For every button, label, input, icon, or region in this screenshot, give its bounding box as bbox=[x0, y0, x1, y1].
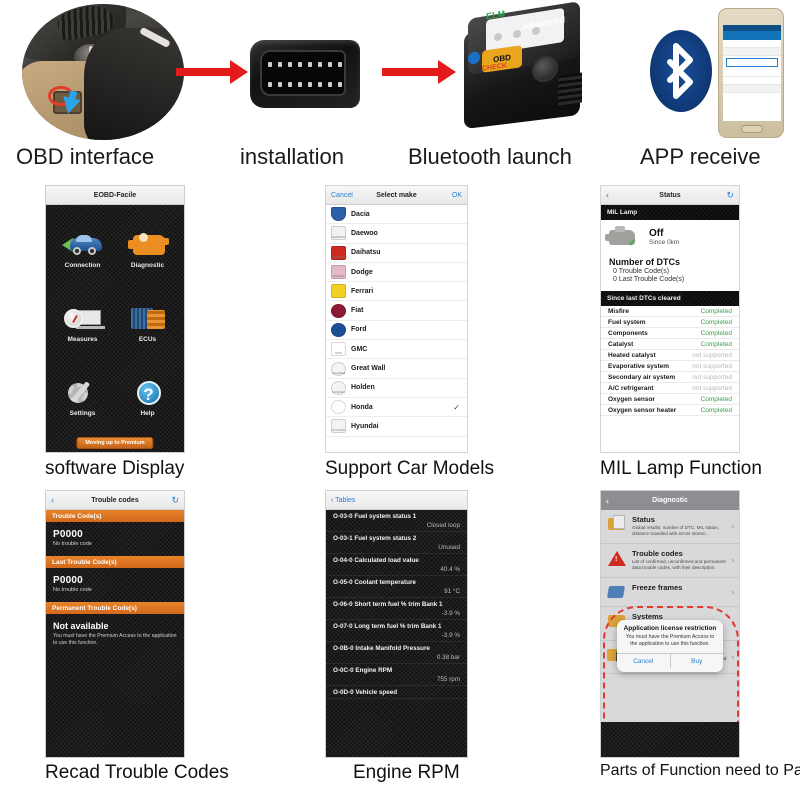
monitor-row: MisfireCompleted bbox=[601, 306, 739, 317]
pid-value: 755 rpm bbox=[333, 676, 460, 683]
home-tile-connection[interactable]: Connection bbox=[50, 213, 115, 287]
app-title: EOBD-Facile bbox=[94, 192, 136, 199]
plug-face bbox=[260, 50, 346, 96]
pid-name: O-06-0 Short term fuel % trim Bank 1 bbox=[333, 601, 460, 608]
phone-list-row bbox=[723, 40, 781, 48]
warning-triangle-icon bbox=[607, 549, 627, 567]
monitor-status-badge: Completed bbox=[701, 308, 732, 315]
caption-engine-rpm: Engine RPM bbox=[353, 762, 460, 784]
phone-selected-device-row bbox=[726, 58, 778, 67]
caption-software-display: software Display bbox=[45, 458, 184, 480]
caption-paid-functions: Parts of Function need to Pay bbox=[600, 762, 800, 780]
back-icon[interactable]: ‹ bbox=[606, 190, 609, 200]
pid-row[interactable]: O-0B-0 Intake Manifold Pressure0.38 bar bbox=[326, 642, 467, 664]
mil-state-row: ✔ Off Since 0km bbox=[609, 226, 731, 248]
pid-name: O-07-0 Long term fuel % trim Bank 1 bbox=[333, 623, 460, 630]
question-mark-icon: ? bbox=[127, 378, 169, 408]
monitor-status-badge: not supported bbox=[692, 374, 732, 381]
dialog-message: You must have the Premium Access to the … bbox=[617, 634, 723, 653]
engine-lamp-icon: ✔ bbox=[609, 226, 641, 248]
pid-table-list[interactable]: O-03-0 Fuel system status 1Closed loopO-… bbox=[326, 510, 467, 758]
chevron-right-icon: › bbox=[731, 522, 734, 531]
monitor-row: Fuel systemCompleted bbox=[601, 317, 739, 328]
monitor-status-badge: Completed bbox=[701, 330, 732, 337]
trouble-section-body: Not availableYou must have the Premium A… bbox=[46, 614, 184, 656]
home-menu-grid: Connection Diagnostic Measures ECUs bbox=[46, 205, 184, 453]
caption-support-car-models: Support Car Models bbox=[325, 458, 494, 480]
make-logo-icon: DAEWOO bbox=[331, 226, 346, 240]
make-list-item[interactable]: GMCGMC bbox=[326, 340, 467, 359]
make-list-item[interactable]: HYUNDAIHyundai bbox=[326, 417, 467, 436]
make-logo-icon: HOLDEN bbox=[331, 381, 346, 395]
monitor-status-badge: Completed bbox=[701, 319, 732, 326]
refresh-icon[interactable]: ↻ bbox=[171, 495, 179, 506]
dialog-actions: Cancel Buy bbox=[617, 653, 723, 668]
flow-caption-obd: OBD interface bbox=[16, 144, 154, 170]
monitor-status-list: MisfireCompletedFuel systemCompletedComp… bbox=[601, 306, 739, 416]
pid-name: O-0B-0 Intake Manifold Pressure bbox=[333, 645, 460, 652]
pid-row[interactable]: O-06-0 Short term fuel % trim Bank 1-3.9… bbox=[326, 598, 467, 620]
section-header-mil-lamp: MIL Lamp bbox=[601, 205, 739, 220]
monitor-name: A/C refrigerant bbox=[608, 385, 654, 392]
trouble-code-value: P0000 bbox=[53, 575, 177, 586]
pid-row[interactable]: O-05-0 Coolant temperature91 °C bbox=[326, 576, 467, 598]
gauge-laptop-icon bbox=[62, 304, 104, 334]
make-name-label: Holden bbox=[351, 384, 375, 391]
tables-navbar: ‹ Tables bbox=[326, 491, 467, 510]
trouble-section-header: Trouble Code(s) bbox=[46, 510, 184, 522]
make-name-label: Dacia bbox=[351, 211, 370, 218]
status-title: Status bbox=[659, 192, 680, 199]
make-name-label: Hyundai bbox=[351, 423, 379, 430]
make-list-item[interactable]: Ford bbox=[326, 321, 467, 340]
pid-value: Unused bbox=[333, 544, 460, 551]
make-logo-icon bbox=[331, 400, 346, 414]
make-list-item[interactable]: Ferrari bbox=[326, 282, 467, 301]
mil-lamp-summary: ✔ Off Since 0km Number of DTCs 0 Trouble… bbox=[601, 220, 739, 291]
dtc-count-line: 0 Last Trouble Code(s) bbox=[609, 276, 731, 283]
back-icon[interactable]: ‹ bbox=[51, 495, 54, 505]
make-name-label: Daewoo bbox=[351, 230, 378, 237]
diagnostic-item-description: Global results: number of DTC, MIL statu… bbox=[632, 525, 727, 538]
monitor-name: Heated catalyst bbox=[608, 352, 656, 359]
make-name-label: Dodge bbox=[351, 269, 373, 276]
monitor-row: Oxygen sensorCompleted bbox=[601, 394, 739, 405]
diagnostic-title: Diagnostic bbox=[652, 497, 688, 504]
make-logo-caption: GMC bbox=[332, 351, 345, 355]
gear-wrench-icon bbox=[62, 378, 104, 408]
make-list-item[interactable]: Honda✓ bbox=[326, 398, 467, 417]
flow-caption-bluetooth: Bluetooth launch bbox=[408, 144, 572, 170]
obd-interface-photo bbox=[22, 4, 184, 140]
chevron-right-icon: › bbox=[731, 652, 734, 661]
home-tile-measures[interactable]: Measures bbox=[50, 287, 115, 361]
monitor-row: Secondary air systemnot supported bbox=[601, 372, 739, 383]
dialog-cancel-button[interactable]: Cancel bbox=[617, 654, 670, 668]
trouble-code-description: You must have the Premium Access to the … bbox=[53, 633, 177, 647]
flow-caption-installation: installation bbox=[240, 144, 344, 170]
pid-name: O-03-0 Fuel system status 1 bbox=[333, 513, 460, 520]
monitor-name: Components bbox=[608, 330, 648, 337]
make-name-label: Honda bbox=[351, 404, 373, 411]
monitor-row: Oxygen sensor heaterCompleted bbox=[601, 405, 739, 416]
trouble-code-description: No trouble code bbox=[53, 541, 177, 547]
trouble-codes-body: Trouble Code(s)P0000No trouble codeLast … bbox=[46, 510, 184, 758]
back-to-tables-button[interactable]: ‹ Tables bbox=[331, 497, 355, 504]
home-tile-label: Help bbox=[140, 410, 154, 417]
pid-value: -3.9 % bbox=[333, 632, 460, 639]
engine-diagnostic-icon bbox=[127, 230, 169, 260]
diagnostic-list-item[interactable]: Trouble codesList of confirmed, unconfir… bbox=[601, 544, 739, 578]
make-name-label: Great Wall bbox=[351, 365, 385, 372]
home-tile-label: Settings bbox=[70, 410, 96, 417]
monitor-name: Misfire bbox=[608, 308, 629, 315]
make-logo-caption: DAEWOO bbox=[332, 235, 345, 239]
freeze-frame-icon bbox=[607, 583, 627, 601]
home-tile-label: Connection bbox=[65, 262, 101, 269]
section-header-monitors: Since last DTCs cleared bbox=[601, 291, 739, 306]
red-right-arrow-icon-1 bbox=[176, 68, 232, 76]
trouble-section-body: P0000No trouble code bbox=[46, 522, 184, 556]
monitor-status-badge: not supported bbox=[692, 385, 732, 392]
make-list-item[interactable]: DAIHATSUDaihatsu bbox=[326, 244, 467, 263]
pid-row[interactable]: O-03-1 Fuel system status 2Unused bbox=[326, 532, 467, 554]
pid-value: 40.4 % bbox=[333, 566, 460, 573]
trouble-title: Trouble codes bbox=[91, 497, 138, 504]
monitor-status-badge: not supported bbox=[692, 363, 732, 370]
make-logo-caption: GreatWall bbox=[332, 371, 345, 375]
home-tile-label: Measures bbox=[68, 336, 98, 343]
license-restriction-dialog: Application license restriction You must… bbox=[617, 620, 723, 672]
flow-caption-app: APP receive bbox=[640, 144, 761, 170]
diagnostic-list-item[interactable]: Freeze frames› bbox=[601, 578, 739, 607]
make-logo-caption: HOLDEN bbox=[332, 390, 345, 394]
phone-home-button bbox=[741, 125, 763, 133]
home-tile-ecus[interactable]: ECUs bbox=[115, 287, 180, 361]
dtc-count-line: 0 Trouble Code(s) bbox=[609, 268, 731, 275]
make-name-label: Daihatsu bbox=[351, 249, 381, 256]
phone-list-row bbox=[723, 69, 781, 77]
monitor-status-badge: Completed bbox=[701, 407, 732, 414]
dialog-title: Application license restriction bbox=[617, 620, 723, 634]
trouble-code-value: Not available bbox=[53, 621, 177, 631]
mil-state-value: Off bbox=[649, 228, 679, 239]
home-tile-label: Diagnostic bbox=[131, 262, 164, 269]
monitor-name: Oxygen sensor bbox=[608, 396, 655, 403]
plug-pin-row-lower bbox=[268, 78, 342, 91]
panel-paid-functions: ‹ Diagnostic StatusGlobal results: numbe… bbox=[600, 490, 740, 758]
make-list-item[interactable]: Dacia bbox=[326, 205, 467, 224]
pid-row[interactable]: O-04-0 Calculated load value40.4 % bbox=[326, 554, 467, 576]
make-logo-icon: GMC bbox=[331, 342, 346, 356]
trouble-section-header: Last Trouble Code(s) bbox=[46, 556, 184, 568]
page-root: OBD interface installation ELM Advanced bbox=[0, 0, 800, 800]
trouble-code-description: No trouble code bbox=[53, 587, 177, 593]
smartphone-mockup bbox=[718, 8, 784, 138]
pid-name: O-03-1 Fuel system status 2 bbox=[333, 535, 460, 542]
car-make-list[interactable]: DaciaDAEWOODaewooDAIHATSUDaihatsuDODGEDo… bbox=[326, 205, 467, 453]
make-name-label: Ford bbox=[351, 326, 367, 333]
software-titlebar: EOBD-Facile bbox=[46, 186, 184, 205]
diagnostic-footer bbox=[601, 722, 739, 758]
make-list-item[interactable]: DAEWOODaewoo bbox=[326, 224, 467, 243]
pid-row[interactable]: O-03-0 Fuel system status 1Closed loop bbox=[326, 510, 467, 532]
make-list-item[interactable]: Fiat bbox=[326, 301, 467, 320]
make-list-item[interactable]: GreatWallGreat Wall bbox=[326, 359, 467, 378]
home-tile-settings[interactable]: Settings bbox=[50, 360, 115, 434]
pid-value: Closed loop bbox=[333, 522, 460, 529]
make-logo-icon: GreatWall bbox=[331, 362, 346, 376]
refresh-icon[interactable]: ↻ bbox=[726, 190, 734, 201]
dtc-count-title: Number of DTCs bbox=[609, 257, 731, 267]
pid-name: O-0D-0 Vehicle speed bbox=[333, 689, 460, 696]
make-logo-icon: DODGE bbox=[331, 265, 346, 279]
make-logo-icon: DAIHATSU bbox=[331, 246, 346, 260]
monitor-row: CatalystCompleted bbox=[601, 339, 739, 350]
phone-list-row bbox=[723, 85, 781, 93]
back-icon[interactable]: ‹ bbox=[606, 496, 609, 506]
make-logo-caption: DODGE bbox=[332, 274, 345, 278]
diagnostic-item-name: Freeze frames bbox=[632, 583, 682, 592]
make-name-label: Fiat bbox=[351, 307, 363, 314]
make-logo-icon: HYUNDAI bbox=[331, 419, 346, 433]
monitor-row: Heated catalystnot supported bbox=[601, 350, 739, 361]
adapter-vents bbox=[558, 73, 582, 106]
panel-software-display: EOBD-Facile Connection Diagnostic bbox=[45, 185, 185, 453]
ok-button[interactable]: OK bbox=[452, 192, 462, 199]
diagnostic-navbar: ‹ Diagnostic bbox=[601, 491, 739, 510]
monitor-status-badge: Completed bbox=[701, 396, 732, 403]
pid-name: O-05-0 Coolant temperature bbox=[333, 579, 460, 586]
status-navbar: ‹ Status ↻ bbox=[601, 186, 739, 205]
phone-bluetooth-appbar bbox=[723, 31, 781, 40]
trouble-section-body: P0000No trouble code bbox=[46, 568, 184, 602]
plug-pin-row-upper bbox=[268, 58, 342, 71]
home-tile-label: ECUs bbox=[139, 336, 156, 343]
make-logo-caption: HYUNDAI bbox=[332, 428, 345, 432]
ecu-module-icon bbox=[127, 304, 169, 334]
diagnostic-item-description: List of confirmed, unconfirmed and perma… bbox=[632, 559, 727, 572]
makes-navbar: Cancel Select make OK bbox=[326, 186, 467, 205]
trouble-section-header: Permanent Trouble Code(s) bbox=[46, 602, 184, 614]
bluetooth-logo bbox=[650, 30, 712, 112]
bluetooth-glyph-icon bbox=[650, 30, 712, 112]
monitor-name: Fuel system bbox=[608, 319, 646, 326]
pid-value: -3.9 % bbox=[333, 610, 460, 617]
panel-support-car-models: Cancel Select make OK DaciaDAEWOODaewooD… bbox=[325, 185, 468, 453]
pid-value: 91 °C bbox=[333, 588, 460, 595]
trouble-navbar: ‹ Trouble codes ↻ bbox=[46, 491, 184, 510]
diagnostic-item-name: Status bbox=[632, 515, 727, 524]
make-selected-check-icon: ✓ bbox=[453, 403, 460, 412]
panel-read-trouble-codes: ‹ Trouble codes ↻ Trouble Code(s)P0000No… bbox=[45, 490, 185, 758]
diagnostic-list-item[interactable]: StatusGlobal results: number of DTC, MIL… bbox=[601, 510, 739, 544]
monitor-status-badge: Completed bbox=[701, 341, 732, 348]
cancel-button[interactable]: Cancel bbox=[331, 192, 353, 199]
caption-read-trouble-codes: Recad Trouble Codes bbox=[45, 762, 229, 784]
make-logo-icon bbox=[331, 284, 346, 298]
panel-engine-rpm: ‹ Tables O-03-0 Fuel system status 1Clos… bbox=[325, 490, 468, 758]
red-right-arrow-icon-2 bbox=[382, 68, 440, 76]
pid-row[interactable]: O-07-0 Long term fuel % trim Bank 1-3.9 … bbox=[326, 620, 467, 642]
make-logo-caption: DAIHATSU bbox=[332, 255, 345, 259]
dialog-buy-button[interactable]: Buy bbox=[670, 654, 724, 668]
make-logo-icon bbox=[331, 304, 346, 318]
elm327-bluetooth-adapter: ELM Advanced OBD CHECK bbox=[460, 8, 590, 132]
premium-upgrade-button[interactable]: Moving up to Premium bbox=[76, 437, 153, 449]
mil-since-value: Since 0km bbox=[649, 239, 679, 246]
product-flow-diagram: OBD interface installation ELM Advanced bbox=[0, 0, 800, 172]
obd2-connector-plug bbox=[250, 40, 360, 108]
pid-name: O-04-0 Calculated load value bbox=[333, 557, 460, 564]
makes-title: Select make bbox=[376, 192, 416, 199]
chevron-right-icon: › bbox=[731, 556, 734, 565]
phone-screen bbox=[723, 25, 781, 121]
make-logo-icon bbox=[331, 207, 346, 221]
monitor-row: ComponentsCompleted bbox=[601, 328, 739, 339]
diagnostic-function-list[interactable]: StatusGlobal results: number of DTC, MIL… bbox=[601, 510, 739, 722]
status-folder-icon bbox=[607, 515, 627, 533]
trouble-code-value: P0000 bbox=[53, 529, 177, 540]
home-tile-help[interactable]: ? Help bbox=[115, 360, 180, 434]
chevron-right-icon: › bbox=[731, 619, 734, 628]
diagnostic-item-name: Trouble codes bbox=[632, 549, 727, 558]
make-name-label: Ferrari bbox=[351, 288, 373, 295]
monitor-row: Evaporative systemnot supported bbox=[601, 361, 739, 372]
pid-row[interactable]: O-0C-0 Engine RPM755 rpm bbox=[326, 664, 467, 686]
pid-row[interactable]: O-0D-0 Vehicle speed bbox=[326, 686, 467, 699]
make-name-label: GMC bbox=[351, 346, 367, 353]
pid-name: O-0C-0 Engine RPM bbox=[333, 667, 460, 674]
monitor-name: Evaporative system bbox=[608, 363, 669, 370]
chevron-right-icon: › bbox=[731, 587, 734, 596]
phone-list-row bbox=[723, 48, 781, 56]
panel-mil-lamp-function: ‹ Status ↻ MIL Lamp ✔ Off Since 0km Numb… bbox=[600, 185, 740, 453]
monitor-name: Catalyst bbox=[608, 341, 633, 348]
caption-mil-lamp-function: MIL Lamp Function bbox=[600, 458, 762, 480]
monitor-row: A/C refrigerantnot supported bbox=[601, 383, 739, 394]
car-connection-icon bbox=[62, 230, 104, 260]
pid-value: 0.38 bar bbox=[333, 654, 460, 661]
monitor-name: Secondary air system bbox=[608, 374, 675, 381]
home-tile-diagnostic[interactable]: Diagnostic bbox=[115, 213, 180, 287]
monitor-name: Oxygen sensor heater bbox=[608, 407, 676, 414]
monitor-status-badge: not supported bbox=[692, 352, 732, 359]
make-logo-icon bbox=[331, 323, 346, 337]
make-list-item[interactable]: HOLDENHolden bbox=[326, 379, 467, 398]
phone-list-row bbox=[723, 77, 781, 85]
make-list-item[interactable]: DODGEDodge bbox=[326, 263, 467, 282]
